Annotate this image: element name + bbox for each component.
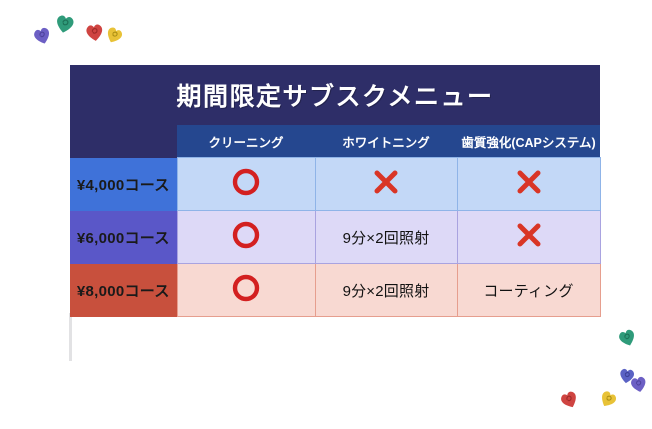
table-title-row: 期間限定サブスクメニュー (70, 65, 600, 125)
table-row: ¥4,000コース (70, 158, 600, 211)
confetti-red-icon (83, 20, 106, 43)
row-label-4000: ¥4,000コース (70, 158, 177, 211)
confetti-blue-icon (617, 365, 637, 385)
circle-icon (231, 273, 261, 303)
subscription-menu-table: 期間限定サブスクメニュー クリーニング ホワイトニング 歯質強化(CAPシステム… (70, 65, 601, 317)
cell-8000-cap-system: コーティング (457, 264, 600, 317)
flag-pole (69, 313, 72, 361)
column-header-cap-system: 歯質強化(CAPシステム) (457, 125, 600, 158)
page-title: 期間限定サブスクメニュー (70, 65, 600, 125)
cell-8000-whitening: 9分×2回照射 (315, 264, 457, 317)
cross-icon (514, 220, 544, 250)
table-row: ¥6,000コース 9分×2回照射 (70, 211, 600, 264)
confetti-purple-icon (628, 373, 649, 394)
confetti-green-icon (53, 11, 77, 35)
cross-icon (514, 167, 544, 197)
table-corner-cell (70, 125, 177, 158)
cell-text: 9分×2回照射 (343, 283, 430, 300)
row-label-8000: ¥8,000コース (70, 264, 177, 317)
column-header-cleaning: クリーニング (177, 125, 315, 158)
confetti-yellow-icon (104, 24, 125, 45)
cell-4000-cap-system (457, 158, 600, 211)
row-label-6000: ¥6,000コース (70, 211, 177, 264)
cell-4000-cleaning (177, 158, 315, 211)
cell-6000-cap-system (457, 211, 600, 264)
circle-icon (231, 220, 261, 250)
confetti-purple-icon (31, 24, 53, 46)
cell-4000-whitening (315, 158, 457, 211)
confetti-green-icon (616, 326, 638, 348)
confetti-yellow-icon (598, 388, 619, 409)
cell-text: コーティング (483, 283, 573, 300)
cross-icon (371, 167, 401, 197)
cell-6000-cleaning (177, 211, 315, 264)
circle-icon (231, 167, 261, 197)
table-header-row: クリーニング ホワイトニング 歯質強化(CAPシステム) (70, 125, 600, 158)
cell-8000-cleaning (177, 264, 315, 317)
cell-text: 9分×2回照射 (343, 230, 430, 247)
column-header-whitening: ホワイトニング (315, 125, 457, 158)
table-row: ¥8,000コース 9分×2回照射 コーティング (70, 264, 600, 317)
confetti-red-icon (558, 388, 580, 410)
cell-6000-whitening: 9分×2回照射 (315, 211, 457, 264)
